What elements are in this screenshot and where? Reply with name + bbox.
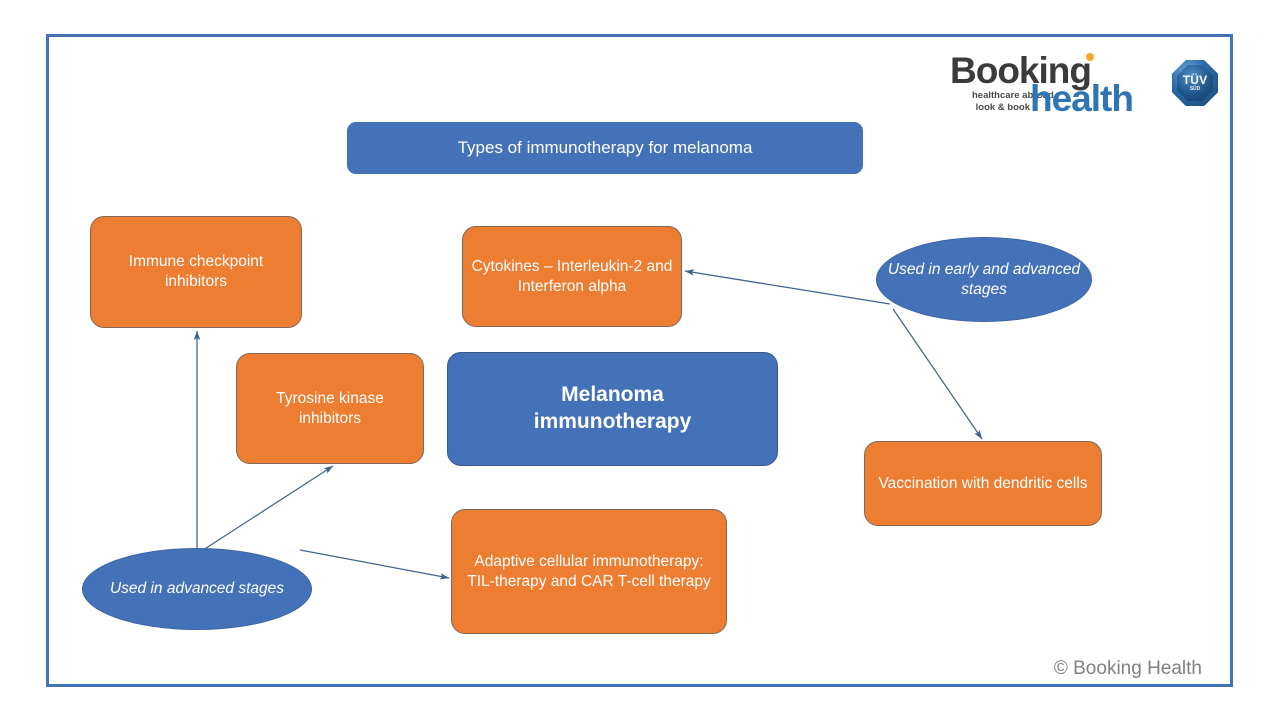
booking-health-logo: Booking healthcare abroad look & book he… <box>950 52 1165 120</box>
logo-tagline-line2: look & book <box>976 102 1030 113</box>
node-label: Tyrosine kinase inhibitors <box>237 389 423 429</box>
node-label-line2: immunotherapy <box>534 410 692 433</box>
node-used-in-advanced-stages: Used in advanced stages <box>82 548 312 630</box>
node-melanoma-immunotherapy: Melanoma immunotherapy <box>447 352 778 466</box>
node-label: Cytokines – Interleukin-2 and Interferon… <box>463 257 681 297</box>
logo-tagline: healthcare abroad look & book <box>972 90 1030 113</box>
node-label: Used in early and advanced stages <box>877 260 1091 300</box>
badge-main-text: TÜV <box>1183 74 1208 86</box>
logo-accent-dot-icon <box>1086 53 1094 61</box>
node-label: Used in advanced stages <box>102 579 292 599</box>
copyright-notice: © Booking Health <box>1054 658 1202 680</box>
node-vaccination-dendritic-cells: Vaccination with dendritic cells <box>864 441 1102 526</box>
tuv-sud-certification-badge-icon: TÜV SÜD <box>1172 60 1218 106</box>
node-label: Melanoma immunotherapy <box>526 382 700 436</box>
node-label: Immune checkpoint inhibitors <box>91 252 301 292</box>
node-label: Vaccination with dendritic cells <box>870 474 1095 494</box>
diagram-title-label: Types of immunotherapy for melanoma <box>450 137 761 159</box>
badge-sub-text: SÜD <box>1190 87 1201 92</box>
logo-secondary-text: health <box>1030 80 1133 117</box>
node-tyrosine-kinase-inhibitors: Tyrosine kinase inhibitors <box>236 353 424 464</box>
slide-canvas: Booking healthcare abroad look & book he… <box>0 0 1280 720</box>
node-used-in-early-and-advanced-stages: Used in early and advanced stages <box>876 237 1092 322</box>
node-label: Adaptive cellular immunotherapy: TIL-the… <box>452 552 726 592</box>
node-adaptive-cellular-immunotherapy: Adaptive cellular immunotherapy: TIL-the… <box>451 509 727 634</box>
node-cytokines: Cytokines – Interleukin-2 and Interferon… <box>462 226 682 327</box>
badge-inner-octagon: TÜV SÜD <box>1177 65 1213 101</box>
diagram-title-box: Types of immunotherapy for melanoma <box>347 122 863 174</box>
node-immune-checkpoint-inhibitors: Immune checkpoint inhibitors <box>90 216 302 328</box>
node-label-line1: Melanoma <box>561 383 664 406</box>
